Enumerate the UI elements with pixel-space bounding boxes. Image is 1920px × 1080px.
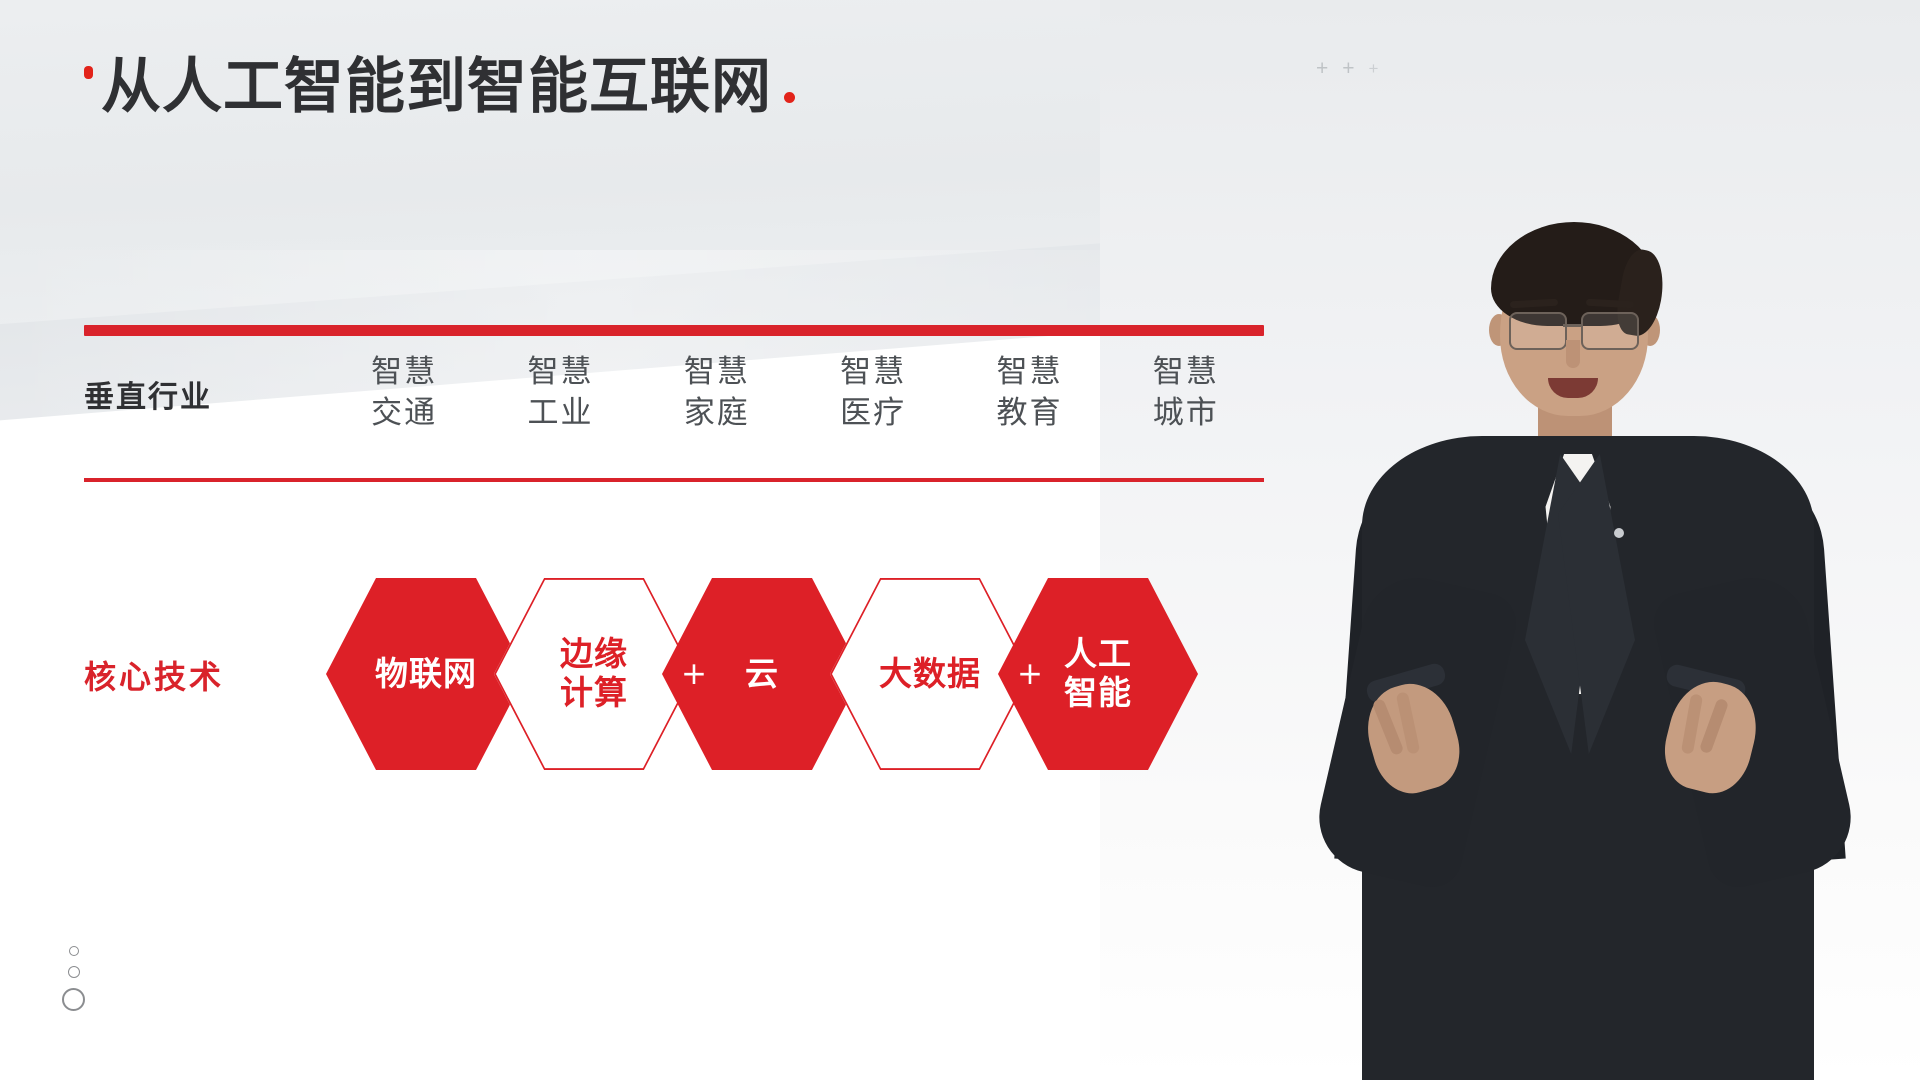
- divider-top-red-bar: [84, 325, 1264, 336]
- small-circle-icon: [69, 946, 79, 956]
- vertical-industry-label: 垂直行业: [84, 352, 326, 416]
- hexagon-label: 人工 智能: [1064, 635, 1132, 713]
- decorative-plus-group: + + +: [1316, 58, 1378, 79]
- presenter-eyeglass-right: [1581, 312, 1639, 350]
- title-label: 从人工智能到智能互联网: [101, 52, 772, 122]
- hexagon-chain: 物联网 边缘 计算 云 大数据 人工 智能 + + + +: [326, 560, 1264, 790]
- divider-bottom-red-line: [84, 478, 1264, 482]
- core-technology-label: 核心技术: [84, 652, 326, 698]
- industry-list: 智慧 交通 智慧 工业 智慧 家庭 智慧 医疗 智慧 教育 智慧 城市: [326, 352, 1264, 434]
- plus-icon: +: [1369, 60, 1379, 77]
- decorative-circles-group: [62, 946, 85, 1011]
- industry-line-2: 教育: [951, 393, 1107, 434]
- industry-line-2: 医疗: [795, 393, 951, 434]
- hexagon-label: 边缘 计算: [560, 635, 628, 713]
- industry-line-1: 智慧: [482, 352, 638, 393]
- industry-item-smart-transport[interactable]: 智慧 交通: [326, 352, 482, 434]
- plus-icon: +: [1342, 58, 1354, 79]
- medium-circle-icon: [68, 966, 80, 978]
- industry-line-2: 工业: [482, 393, 638, 434]
- connector-plus-icon-4: +: [995, 574, 1065, 774]
- vertical-industry-row: 垂直行业 智慧 交通 智慧 工业 智慧 家庭 智慧 医疗 智慧 教育: [84, 352, 1264, 472]
- presenter-video-overlay: [1352, 228, 1822, 1080]
- industry-item-smart-home[interactable]: 智慧 家庭: [639, 352, 795, 434]
- industry-line-2: 城市: [1108, 393, 1264, 434]
- industry-line-1: 智慧: [1108, 352, 1264, 393]
- industry-item-smart-education[interactable]: 智慧 教育: [951, 352, 1107, 434]
- core-technology-row: 核心技术 物联网 边缘 计算 云 大数据 人工 智能 + +: [84, 560, 1264, 790]
- title-accent-dot-icon: [84, 66, 93, 79]
- industry-line-2: 交通: [326, 393, 482, 434]
- presentation-slide: + + + 从人工智能到智能互联网 垂直行业 智慧 交通 智慧 工业 智慧 家庭: [0, 0, 1920, 1080]
- presenter-nose: [1566, 340, 1580, 368]
- title-text-line: 从人工智能到智能互联网: [101, 56, 795, 119]
- presenter-lapel-microphone-icon: [1614, 528, 1624, 538]
- plus-icon: +: [1316, 58, 1328, 79]
- industry-line-1: 智慧: [639, 352, 795, 393]
- presenter-eyeglass-bridge: [1563, 324, 1581, 327]
- industry-item-smart-city[interactable]: 智慧 城市: [1108, 352, 1264, 434]
- hexagon-label: 物联网: [375, 655, 477, 694]
- industry-item-smart-industry[interactable]: 智慧 工业: [482, 352, 638, 434]
- industry-line-1: 智慧: [951, 352, 1107, 393]
- title-period-dot-icon: [784, 92, 795, 103]
- connector-plus-icon-2: +: [659, 574, 729, 774]
- industry-item-smart-healthcare[interactable]: 智慧 医疗: [795, 352, 951, 434]
- page-title: 从人工智能到智能互联网: [84, 56, 795, 119]
- presenter-eyeglass-left: [1509, 312, 1567, 350]
- connector-plus-icon-3: +: [827, 574, 897, 774]
- hexagon-label: 云: [745, 655, 779, 694]
- industry-line-1: 智慧: [326, 352, 482, 393]
- industry-line-1: 智慧: [795, 352, 951, 393]
- connector-plus-icon-1: +: [491, 574, 561, 774]
- large-circle-icon: [62, 988, 85, 1011]
- industry-line-2: 家庭: [639, 393, 795, 434]
